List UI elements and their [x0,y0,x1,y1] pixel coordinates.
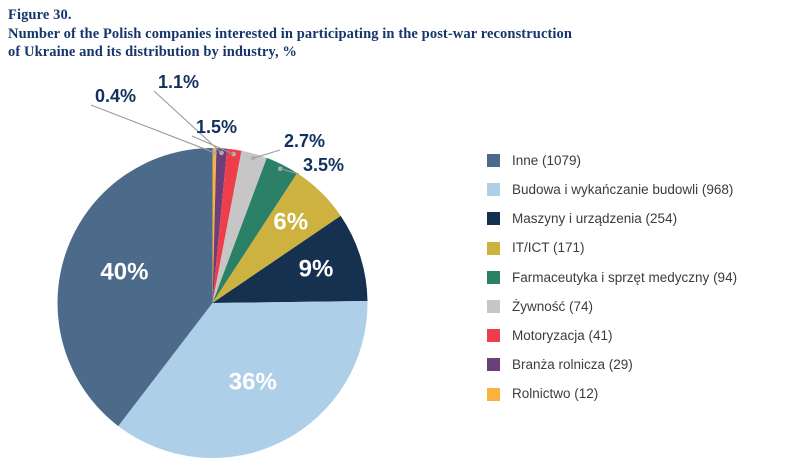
legend-item: Farmaceutyka i sprzęt medyczny (94) [487,263,782,292]
chart-legend: Inne (1079)Budowa i wykańczanie budowli … [487,146,782,409]
legend-color-swatch [487,183,500,196]
legend-color-swatch [487,212,500,225]
legend-item: Rolnictwo (12) [487,380,782,409]
pie-chart-area: 40%36%9%6% 0.4%1.1%1.5%2.7%3.5% [0,60,470,476]
legend-item-label: Inne (1079) [512,154,581,168]
figure-title-line-2: of Ukraine and its distribution by indus… [8,43,778,62]
pie-slice-value-label: 0.4% [95,86,136,106]
legend-item: IT/ICT (171) [487,234,782,263]
pie-slice-value-label: 2.7% [284,131,325,151]
legend-item-label: Budowa i wykańczanie budowli (968) [512,183,733,197]
figure-title-line-1: Number of the Polish companies intereste… [8,25,778,44]
pie-slice-value-label: 9% [299,256,334,283]
legend-color-swatch [487,358,500,371]
legend-item: Inne (1079) [487,146,782,175]
pie-slices-group [57,148,367,458]
legend-item-label: Maszyny i urządzenia (254) [512,212,677,226]
legend-item: Żywność (74) [487,292,782,321]
figure-caption: Figure 30. Number of the Polish companie… [8,6,778,62]
leader-line [253,150,280,158]
legend-item-label: Motoryzacja (41) [512,329,613,343]
legend-item-label: Farmaceutyka i sprzęt medyczny (94) [512,271,737,285]
legend-item: Budowa i wykańczanie budowli (968) [487,175,782,204]
pie-slice-value-label: 40% [100,259,148,286]
legend-item: Maszyny i urządzenia (254) [487,204,782,233]
pie-slice-value-label: 36% [229,369,277,396]
pie-slice-value-label: 1.5% [196,117,237,137]
legend-color-swatch [487,242,500,255]
pie-slice-value-label: 3.5% [303,155,344,175]
pie-slice-value-label: 1.1% [158,72,199,92]
legend-color-swatch [487,154,500,167]
legend-item-label: Żywność (74) [512,300,593,314]
pie-slice-value-label: 6% [273,209,308,236]
legend-item-label: IT/ICT (171) [512,241,585,255]
legend-item: Branża rolnicza (29) [487,350,782,379]
legend-item-label: Branża rolnicza (29) [512,358,633,372]
legend-item-label: Rolnictwo (12) [512,387,598,401]
figure-number: Figure 30. [8,6,778,25]
legend-color-swatch [487,329,500,342]
legend-item: Motoryzacja (41) [487,321,782,350]
pie-chart-svg: 40%36%9%6% 0.4%1.1%1.5%2.7%3.5% [0,60,470,476]
legend-color-swatch [487,388,500,401]
legend-color-swatch [487,271,500,284]
legend-color-swatch [487,300,500,313]
figure-container: Figure 30. Number of the Polish companie… [0,0,786,476]
